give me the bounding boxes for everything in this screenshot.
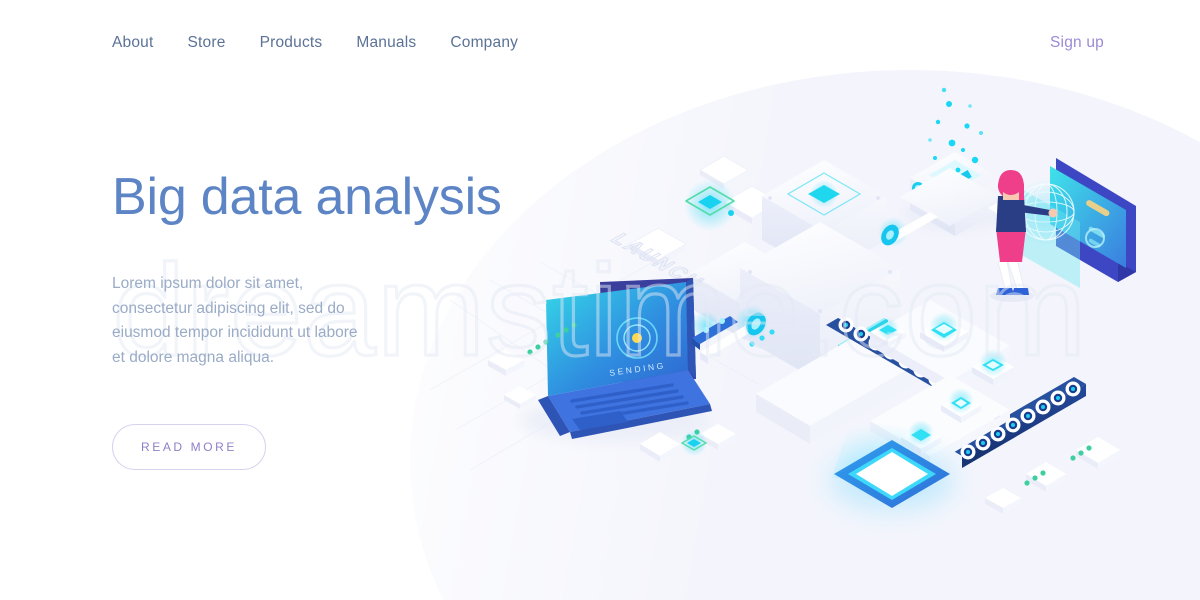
hero-description: Lorem ipsum dolor sit amet, consectetur …: [112, 272, 360, 370]
hero-section: Big data analysis Lorem ipsum dolor sit …: [112, 168, 532, 470]
platform-glow-tile-1: [920, 312, 968, 352]
small-scanner-left: [681, 430, 707, 456]
laptop-connector: [691, 311, 738, 350]
loading-spinner-icon: [617, 318, 657, 358]
machine-block-back-left: [690, 242, 800, 340]
person-figure: [990, 170, 1058, 302]
launch-label: LAUNCH: [605, 230, 711, 291]
light-beam: [832, 400, 928, 478]
laptop-screen-label: SENDING: [609, 360, 667, 378]
landing-page: About Store Products Manuals Company Sig…: [0, 0, 1200, 600]
nav-links: About Store Products Manuals Company: [112, 34, 518, 52]
nav-link-products[interactable]: Products: [260, 34, 323, 52]
scanner-diamond: [684, 179, 736, 231]
top-navigation: About Store Products Manuals Company Sig…: [0, 0, 1200, 86]
glowing-output-tile: [830, 440, 954, 510]
nav-link-company[interactable]: Company: [450, 34, 518, 52]
globe-grid-icon: [1018, 184, 1074, 240]
emitter-particles: [928, 88, 983, 173]
page-title: Big data analysis: [112, 168, 532, 226]
conveyor-platform-upper: [870, 300, 1010, 392]
particle-emitter-cube: [901, 152, 1009, 236]
nav-link-manuals[interactable]: Manuals: [356, 34, 416, 52]
conveyor-platform-lower: [870, 375, 1010, 466]
conveyor-rail-lower: [950, 377, 1086, 468]
signup-link[interactable]: Sign up: [1050, 34, 1104, 52]
connector-tube-right: [878, 212, 938, 249]
lower-glow-tile-2: [901, 420, 941, 455]
read-more-button[interactable]: READ MORE: [112, 424, 266, 470]
connector-tube-left: [700, 305, 770, 364]
lower-glow-tile-1: [941, 388, 981, 423]
data-tiles-bottom-right: [985, 437, 1120, 514]
floating-tiles-left: [630, 156, 780, 266]
launch-platform: LAUNCH: [605, 230, 920, 444]
platform-glow-tile-2: [972, 349, 1014, 385]
tablet-display: [1002, 158, 1136, 288]
machine-block-main: [740, 222, 900, 382]
conveyor-rail-upper: [826, 318, 1004, 425]
green-data-dots-left: [527, 322, 699, 439]
machine-block-top: [762, 160, 886, 276]
laptop: SENDING: [520, 278, 712, 442]
platform-glow-tile-3: [870, 318, 906, 347]
nav-link-about[interactable]: About: [112, 34, 154, 52]
cyan-dot-trail: [749, 329, 774, 346]
green-data-dots-right: [1024, 445, 1091, 485]
aux-cube-right: [988, 196, 1030, 220]
side-cube-right: [900, 168, 1000, 226]
nav-link-store[interactable]: Store: [188, 34, 226, 52]
